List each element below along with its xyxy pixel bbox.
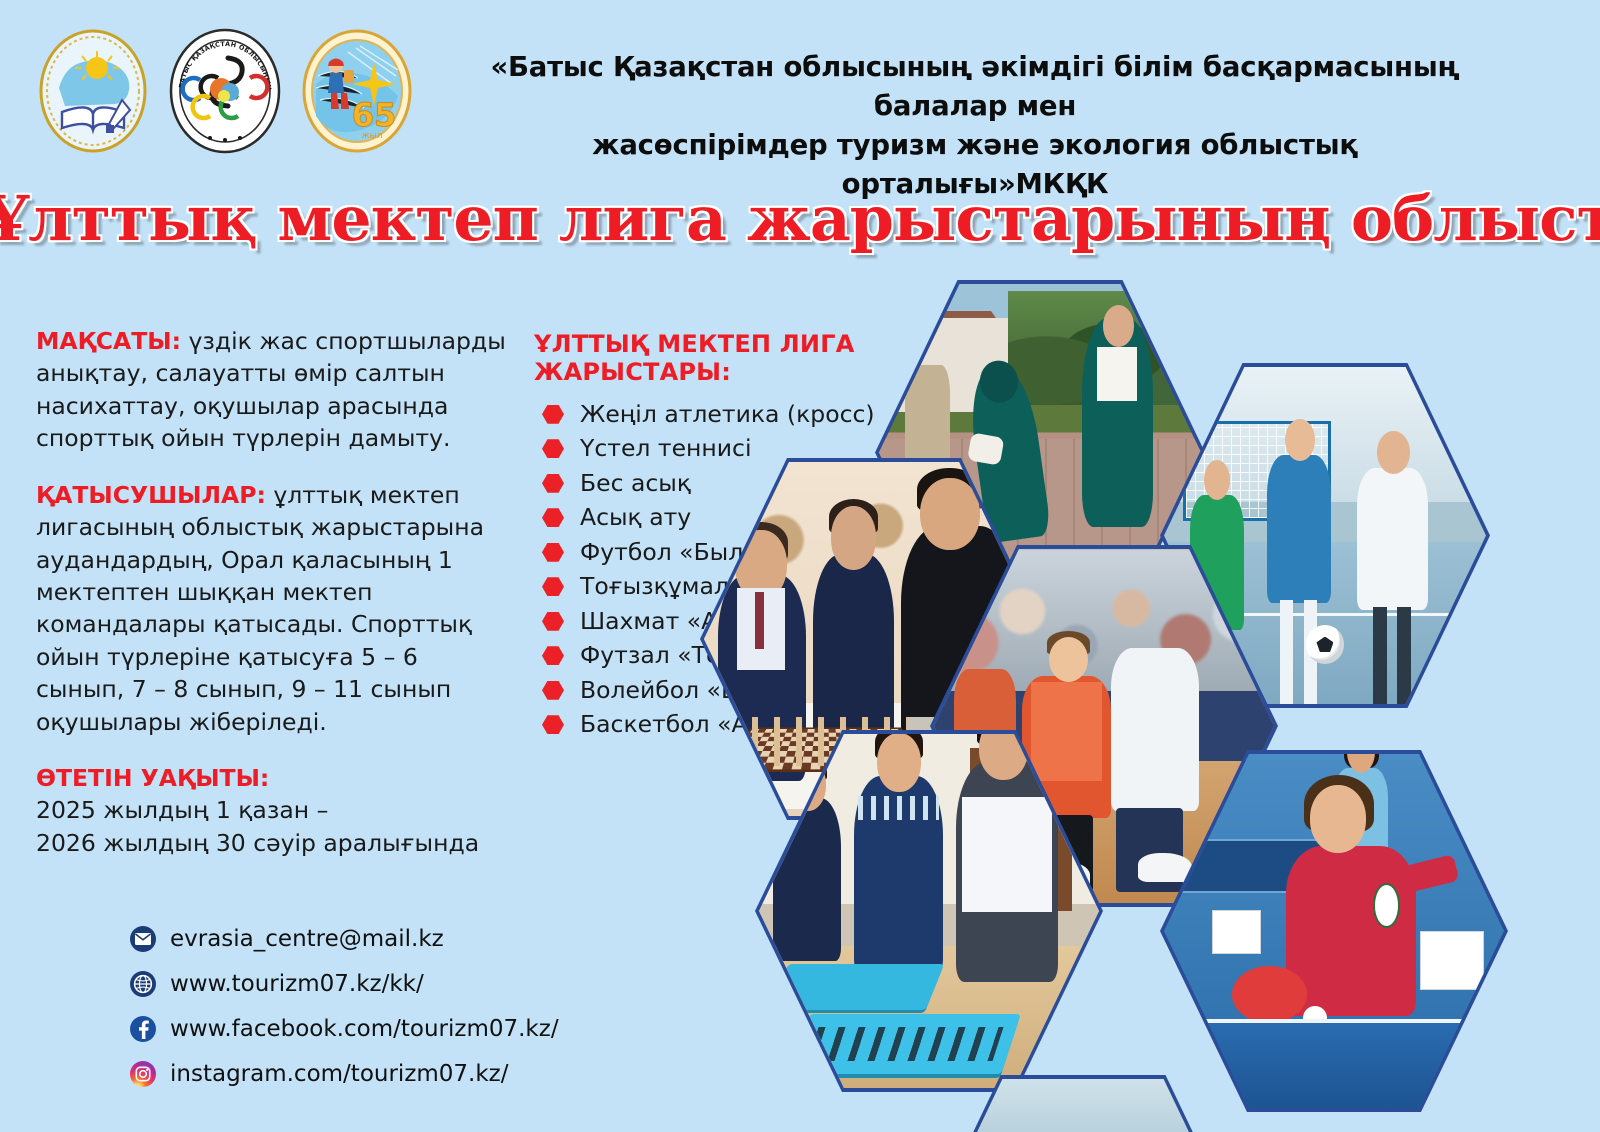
time-label: ӨТЕТІН УАҚЫТЫ: xyxy=(36,762,506,794)
hexagon-bullet-icon xyxy=(542,646,564,665)
globe-icon xyxy=(130,971,156,997)
hexagon-bullet-icon xyxy=(542,543,564,562)
contact-website-text: www.tourizm07.kz/kk/ xyxy=(170,973,424,996)
time-line-1: 2025 жылдың 1 қазан – xyxy=(36,794,506,826)
svg-text:жыл: жыл xyxy=(362,131,383,141)
poster-root: БАТЫС ҚАЗАҚСТАН ОБЛЫСЫНЫҢ ДЕНЕ ШЫНЫҚТЫРУ… xyxy=(0,0,1600,1132)
facebook-icon xyxy=(130,1016,156,1042)
hexagon-bullet-icon xyxy=(542,681,564,700)
contact-instagram-text: instagram.com/tourizm07.kz/ xyxy=(170,1063,509,1086)
hexagon-bullet-icon xyxy=(542,612,564,631)
contact-list: evrasia_centre@mail.kz www.tourizm07.kz/… xyxy=(130,920,559,1100)
page-title: Ұлттық мектеп лига жарыстарының облыстық… xyxy=(0,188,1600,250)
goal-label: МАҚСАТЫ: xyxy=(36,327,181,355)
contact-facebook[interactable]: www.facebook.com/tourizm07.kz/ xyxy=(130,1010,559,1048)
hexagon-bullet-icon xyxy=(542,439,564,458)
time-block: ӨТЕТІН УАҚЫТЫ: 2025 жылдың 1 қазан – 202… xyxy=(36,762,506,859)
contact-instagram[interactable]: instagram.com/tourizm07.kz/ xyxy=(130,1055,559,1093)
info-column: МАҚСАТЫ: үздік жас спортшыларды анықтау,… xyxy=(36,325,506,859)
goal-paragraph: МАҚСАТЫ: үздік жас спортшыларды анықтау,… xyxy=(36,325,506,455)
poster-header: БАТЫС ҚАЗАҚСТАН ОБЛЫСЫНЫҢ ДЕНЕ ШЫНЫҚТЫРУ… xyxy=(0,0,1600,160)
hexagon-bullet-icon xyxy=(542,474,564,493)
wko-sport-department-emblem-icon: БАТЫС ҚАЗАҚСТАН ОБЛЫСЫНЫҢ ДЕНЕ ШЫНЫҚТЫРУ… xyxy=(166,26,284,156)
contact-website[interactable]: www.tourizm07.kz/kk/ xyxy=(130,965,559,1003)
email-icon xyxy=(130,926,156,952)
logo-group: БАТЫС ҚАЗАҚСТАН ОБЛЫСЫНЫҢ ДЕНЕ ШЫНЫҚТЫРУ… xyxy=(34,26,416,156)
photo-collage: 44 12 7 23 xyxy=(600,275,1600,1132)
contact-email[interactable]: evrasia_centre@mail.kz xyxy=(130,920,559,958)
time-line-2: 2026 жылдың 30 сәуір аралығында xyxy=(36,827,506,859)
hexagon-bullet-icon xyxy=(542,508,564,527)
hexagon-bullet-icon xyxy=(542,715,564,734)
contact-facebook-text: www.facebook.com/tourizm07.kz/ xyxy=(170,1018,559,1041)
hexagon-bullet-icon xyxy=(542,577,564,596)
anniversary-65-emblem-icon: 65 жыл xyxy=(298,26,416,156)
participants-paragraph: ҚАТЫСУШЫЛАР: ұлттық мектеп лигасының обл… xyxy=(36,479,506,738)
kazakhstan-education-emblem-icon xyxy=(34,26,152,156)
participants-text: ұлттық мектеп лигасының облыстық жарыста… xyxy=(36,481,484,736)
participants-label: ҚАТЫСУШЫЛАР: xyxy=(36,481,266,509)
contact-email-text: evrasia_centre@mail.kz xyxy=(170,928,444,951)
hexagon-bullet-icon xyxy=(542,405,564,424)
instagram-icon xyxy=(130,1061,156,1087)
organization-title-line1: «Батыс Қазақстан облысының әкімдігі білі… xyxy=(470,48,1480,126)
organization-title: «Батыс Қазақстан облысының әкімдігі білі… xyxy=(470,48,1480,204)
anniversary-badge-number: 65 xyxy=(352,96,397,134)
